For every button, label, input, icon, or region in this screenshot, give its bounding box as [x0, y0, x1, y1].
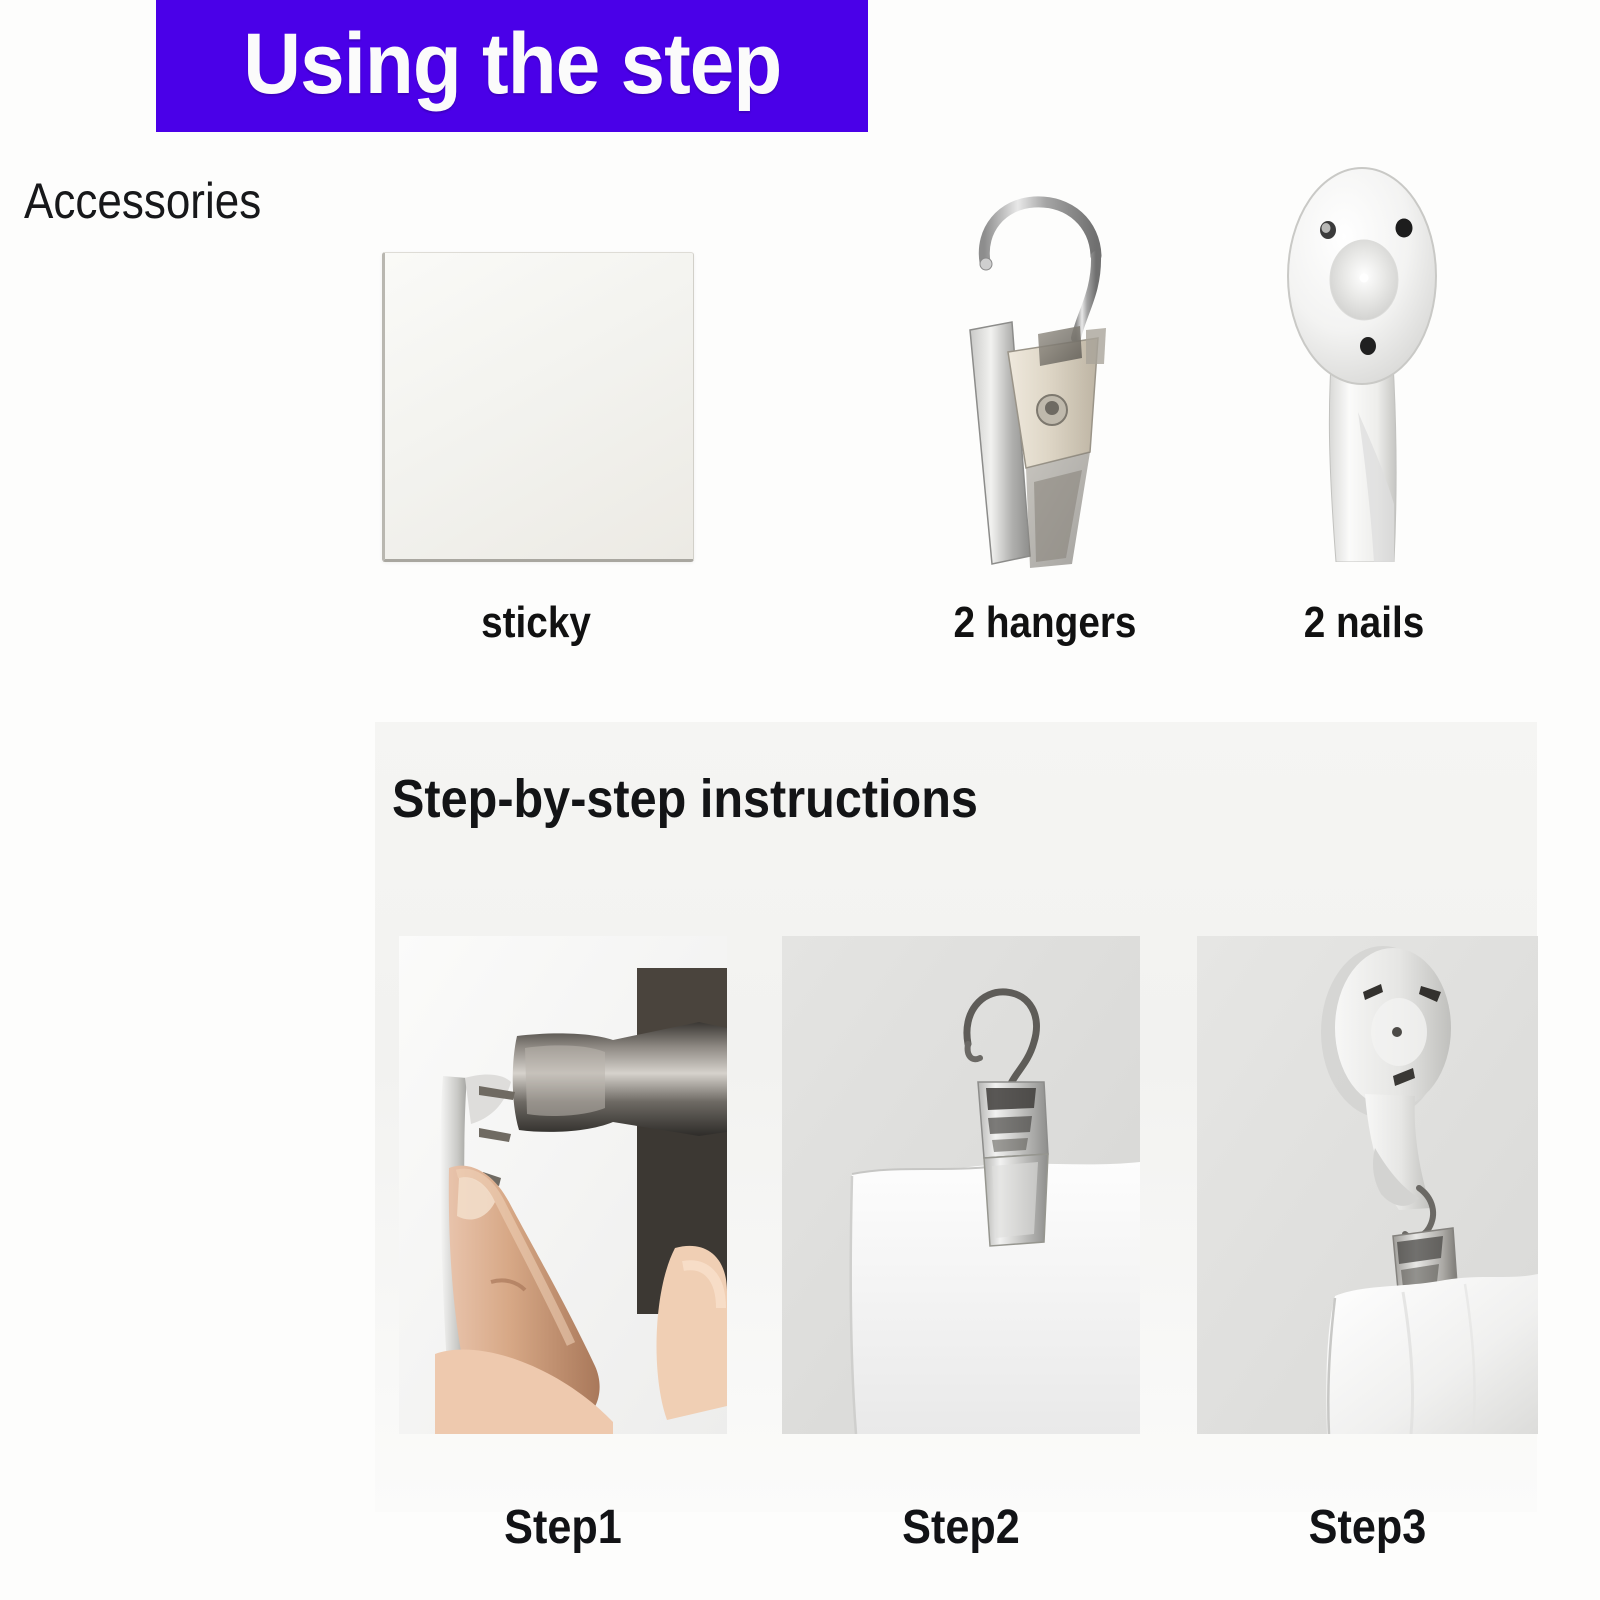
step-1-photo	[399, 936, 727, 1434]
step-3-photo	[1197, 936, 1538, 1434]
accessory-label-hangers: 2 hangers	[917, 598, 1172, 648]
wall-hook-nail-icon	[1262, 158, 1462, 562]
adhesive-pad-icon	[382, 252, 694, 562]
accessory-label-nails: 2 nails	[1255, 598, 1473, 648]
step-2-label: Step2	[800, 1500, 1122, 1555]
accessories-heading: Accessories	[24, 172, 261, 230]
infographic-page: Using the step Accessories sticky	[0, 0, 1600, 1600]
instructions-heading: Step-by-step instructions	[392, 768, 978, 830]
accessory-label-sticky: sticky	[400, 598, 671, 648]
step-3-label: Step3	[1214, 1500, 1521, 1555]
title-banner: Using the step	[156, 0, 868, 132]
step-2-photo	[782, 936, 1140, 1434]
clip-hanger-icon	[930, 152, 1150, 572]
page-title: Using the step	[243, 21, 781, 107]
step-1-label: Step1	[415, 1500, 710, 1555]
